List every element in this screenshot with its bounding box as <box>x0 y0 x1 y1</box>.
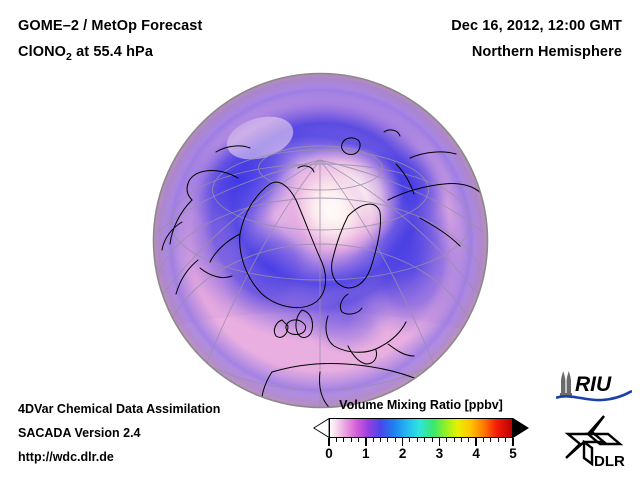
colorbar-tick-major <box>365 438 367 446</box>
colorbar-tick-major <box>402 438 404 446</box>
colorbar-tick-minor <box>409 438 410 442</box>
colorbar-tick-minor <box>343 438 344 442</box>
colorbar-tick-minor <box>424 438 425 442</box>
globe-svg <box>152 72 489 409</box>
dlr-logo-svg: DLR <box>564 414 632 470</box>
riu-logo: RIU <box>556 369 632 403</box>
species-level: at 55.4 hPa <box>72 44 153 60</box>
colorbar-tick-minor <box>351 438 352 442</box>
colorbar-tick-minor <box>380 438 381 442</box>
timestamp-label: Dec 16, 2012, 12:00 GMT <box>451 18 622 34</box>
riu-logo-svg: RIU <box>556 369 632 403</box>
figure-canvas: GOME–2 / MetOp Forecast ClONO2 at 55.4 h… <box>0 0 640 480</box>
colorbar-tick-label: 2 <box>399 446 407 461</box>
footer-method: 4DVar Chemical Data Assimilation <box>18 402 220 416</box>
colorbar-over-arrow <box>513 418 529 438</box>
colorbar-title: Volume Mixing Ratio [ppbv] <box>313 398 529 412</box>
colorbar-tick-minor <box>490 438 491 442</box>
colorbar-tick-major <box>512 438 514 446</box>
colorbar-tick-minor <box>505 438 506 442</box>
cologne-cathedral-icon <box>560 371 572 396</box>
colorbar-tick-minor <box>498 438 499 442</box>
species-name: ClONO <box>18 44 66 60</box>
footer-version: SACADA Version 2.4 <box>18 426 141 440</box>
colorbar-tick-label: 1 <box>362 446 370 461</box>
colorbar-tick-minor <box>358 438 359 442</box>
colorbar-ticks <box>329 438 513 446</box>
globe-map <box>152 72 489 409</box>
colorbar-frame <box>329 418 513 438</box>
colorbar-tick-minor <box>417 438 418 442</box>
riu-wordmark: RIU <box>575 373 612 396</box>
colorbar-tick-labels: 012345 <box>329 446 513 464</box>
colorbar-tick-minor <box>395 438 396 442</box>
page-title: GOME–2 / MetOp Forecast <box>18 18 202 34</box>
colorbar-tick-label: 3 <box>436 446 444 461</box>
colorbar-tick-minor <box>454 438 455 442</box>
colorbar-tick-major <box>439 438 441 446</box>
colorbar: Volume Mixing Ratio [ppbv] 012345 <box>313 398 529 438</box>
colorbar-tick-minor <box>432 438 433 442</box>
colorbar-tick-label: 5 <box>509 446 517 461</box>
region-label: Northern Hemisphere <box>472 44 622 60</box>
footer-url[interactable]: http://wdc.dlr.de <box>18 450 114 464</box>
dlr-logo: DLR <box>564 414 632 470</box>
colorbar-tick-minor <box>461 438 462 442</box>
colorbar-tick-minor <box>483 438 484 442</box>
colorbar-tick-major <box>328 438 330 446</box>
colorbar-tick-minor <box>446 438 447 442</box>
colorbar-tick-major <box>475 438 477 446</box>
colorbar-tick-label: 4 <box>472 446 480 461</box>
colorbar-tick-minor <box>336 438 337 442</box>
colorbar-tick-minor <box>373 438 374 442</box>
colorbar-row: 012345 <box>313 418 529 438</box>
colorbar-tick-label: 0 <box>325 446 333 461</box>
colorbar-tick-minor <box>468 438 469 442</box>
dlr-wordmark: DLR <box>594 453 625 470</box>
species-subtitle: ClONO2 at 55.4 hPa <box>18 44 153 63</box>
colorbar-under-arrow-fill <box>315 419 329 436</box>
colorbar-tick-minor <box>387 438 388 442</box>
